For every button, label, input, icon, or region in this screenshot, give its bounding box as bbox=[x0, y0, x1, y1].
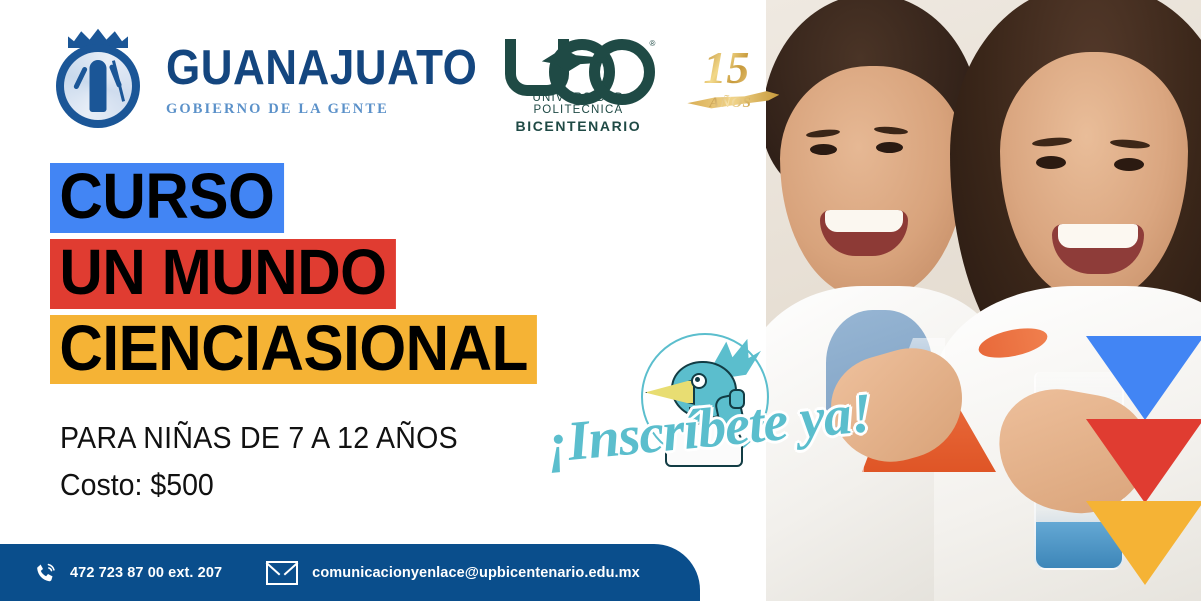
email-contact[interactable]: comunicacionyenlace@upbicentenario.edu.m… bbox=[222, 561, 640, 585]
state-name: GUANAJUATO bbox=[166, 44, 477, 93]
guanajuato-state-seal-icon bbox=[50, 28, 146, 138]
course-promo-banner: GUANAJUATO GOBIERNO DE LA GENTE ® UNIVER… bbox=[0, 0, 1201, 601]
email-address: comunicacionyenlace@upbicentenario.edu.m… bbox=[312, 565, 640, 581]
anniversary-badge: 15 AÑOS bbox=[687, 43, 779, 123]
triangle-blue-icon bbox=[1086, 336, 1201, 420]
registered-mark: ® bbox=[649, 39, 655, 48]
university-line-2: BICENTENARIO bbox=[503, 118, 653, 134]
anniversary-number: 15 bbox=[703, 45, 749, 91]
headline-line-1: CURSO bbox=[50, 163, 284, 233]
phone-icon bbox=[34, 561, 58, 585]
headline-line-3: CIENCIASIONAL bbox=[50, 315, 537, 385]
triangle-amber-icon bbox=[1086, 501, 1201, 585]
phone-number: 472 723 87 00 ext. 207 bbox=[70, 565, 222, 581]
logo-row: GUANAJUATO GOBIERNO DE LA GENTE ® UNIVER… bbox=[50, 28, 779, 138]
envelope-icon bbox=[266, 561, 298, 585]
phone-contact[interactable]: 472 723 87 00 ext. 207 bbox=[0, 561, 222, 585]
triangle-red-icon bbox=[1086, 419, 1201, 503]
state-tagline: GOBIERNO DE LA GENTE bbox=[166, 102, 477, 117]
upb-logo: ® UNIVERSIDAD POLITÉCNICA BICENTENARIO bbox=[503, 37, 653, 129]
anniversary-label: AÑOS bbox=[709, 95, 751, 112]
audience-text: PARA NIÑAS DE 7 A 12 AÑOS bbox=[60, 420, 458, 456]
price-text: Costo: $500 bbox=[60, 467, 458, 503]
guanajuato-wordmark: GUANAJUATO GOBIERNO DE LA GENTE bbox=[166, 49, 477, 117]
upb-monogram-icon: ® bbox=[503, 37, 653, 89]
course-details: PARA NIÑAS DE 7 A 12 AÑOS Costo: $500 bbox=[60, 420, 493, 503]
headline-line-2: UN MUNDO bbox=[50, 239, 396, 309]
headline-block: CURSO UN MUNDO CIENCIASIONAL bbox=[50, 163, 568, 384]
contact-footer: 472 723 87 00 ext. 207 comunicacionyenla… bbox=[0, 544, 700, 601]
